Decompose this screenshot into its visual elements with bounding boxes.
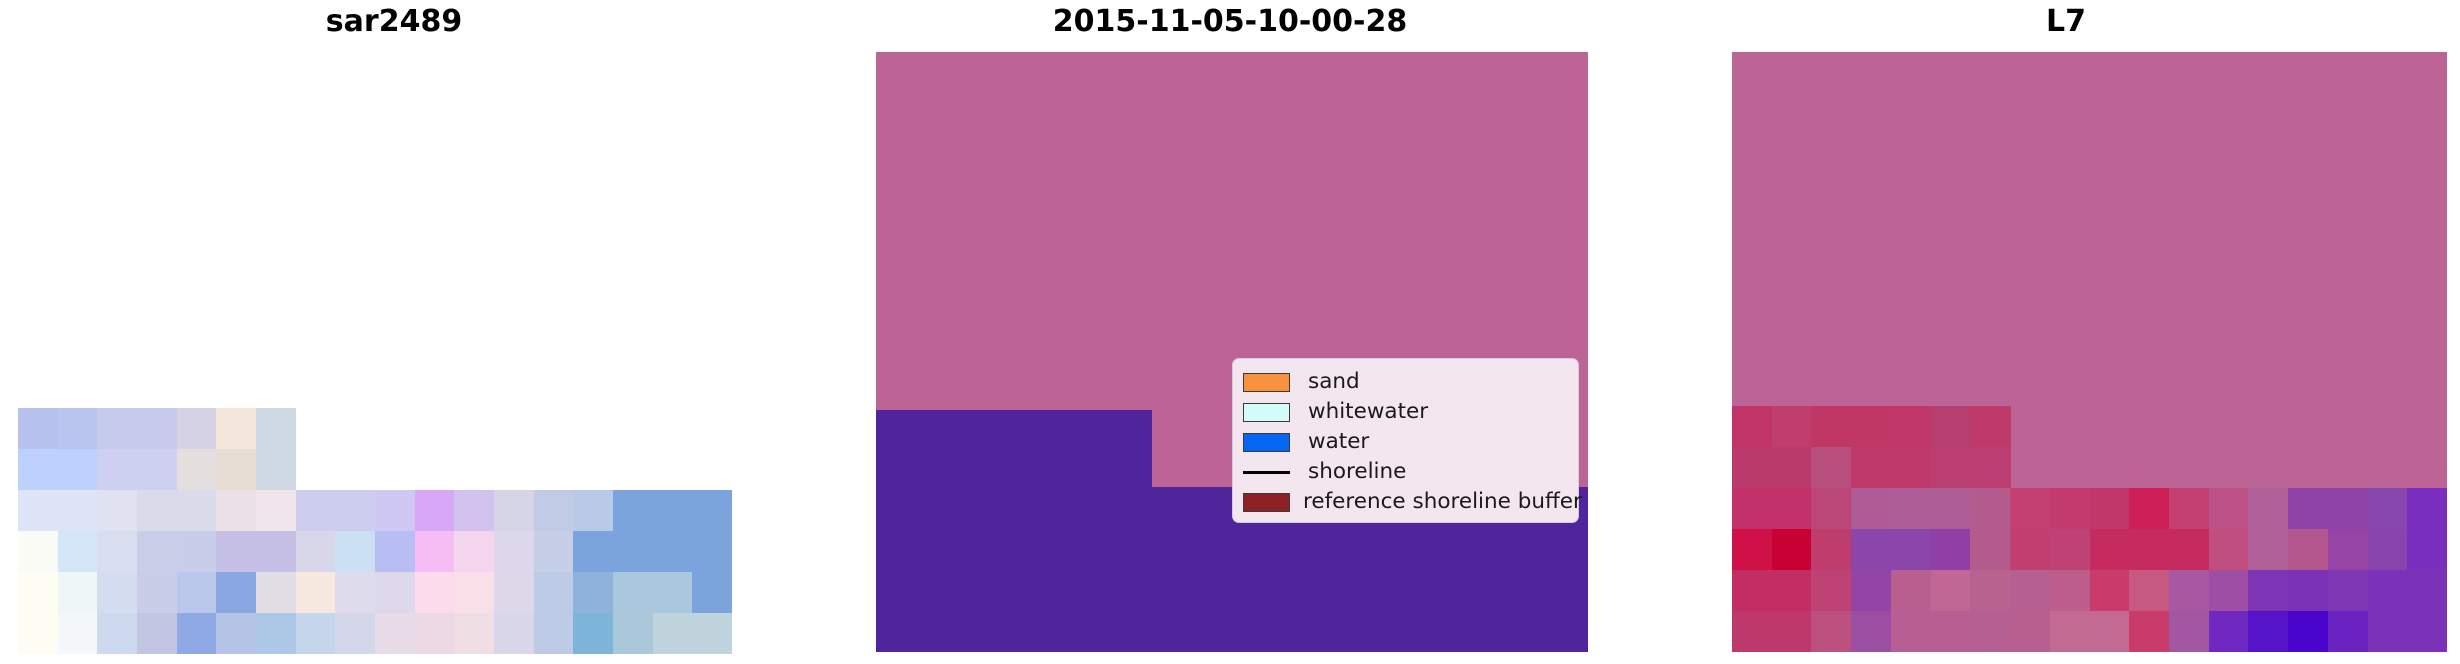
- sar-cell: [177, 408, 217, 450]
- l7-cell: [1931, 529, 1971, 571]
- sar-cell: [494, 490, 534, 532]
- l7-cell: [1811, 570, 1851, 612]
- l7-cell: [1732, 611, 1772, 652]
- legend-marker-icon: [1243, 471, 1290, 474]
- sar-cell: [415, 613, 455, 654]
- raster-l7: [1732, 52, 2447, 652]
- l7-cell: [2010, 570, 2050, 612]
- legend-swatch-shoreline-icon: [1243, 471, 1295, 474]
- legend-swatch-whitewater-icon: [1243, 403, 1295, 422]
- l7-cell: [1811, 406, 1851, 448]
- sar-cell: [335, 613, 375, 654]
- figure-canvas: sar2489 2015-11-05-10-00-28 L7 sandwhite…: [0, 0, 2460, 664]
- sar-cell: [375, 572, 415, 614]
- sar-cell: [256, 408, 296, 450]
- l7-cell: [1772, 447, 1812, 489]
- l7-cell: [2407, 488, 2447, 530]
- sar-cell: [18, 490, 58, 532]
- panel-title-timestamp: 2015-11-05-10-00-28: [836, 4, 1624, 40]
- l7-cell: [1732, 488, 1772, 530]
- l7-cell: [1891, 488, 1931, 530]
- sar-cell: [177, 572, 217, 614]
- sar-cell: [653, 613, 693, 654]
- sar-cell: [137, 531, 177, 573]
- l7-cell: [2010, 488, 2050, 530]
- sar-cell: [296, 531, 336, 573]
- panel-l7: L7: [1672, 0, 2460, 664]
- l7-cell: [1811, 447, 1851, 489]
- legend-marker-icon: [1243, 493, 1290, 512]
- l7-cell: [2209, 488, 2249, 530]
- l7-cell: [2368, 570, 2408, 612]
- sar-cell: [296, 572, 336, 614]
- sar-cell: [494, 572, 534, 614]
- legend-marker-icon: [1243, 373, 1290, 392]
- sar-cell: [18, 613, 58, 654]
- l7-cell: [1891, 529, 1931, 571]
- legend-swatch-reference-icon: [1243, 493, 1290, 512]
- sar-cell: [454, 613, 494, 654]
- sar-cell: [613, 613, 653, 654]
- l7-cell: [2169, 488, 2209, 530]
- panel-title-l7: L7: [1672, 4, 2460, 40]
- sar-cell: [494, 531, 534, 573]
- sar-cell: [573, 572, 613, 614]
- l7-cell: [2169, 611, 2209, 652]
- l7-cell: [2209, 570, 2249, 612]
- legend-item-whitewater: whitewater: [1243, 397, 1568, 427]
- legend-label: reference shoreline buffer: [1290, 487, 1582, 517]
- sar-cell: [534, 490, 574, 532]
- sar-cell: [692, 531, 732, 573]
- l7-cell: [1931, 488, 1971, 530]
- l7-cell: [1931, 611, 1971, 652]
- sar-cell: [692, 572, 732, 614]
- legend-swatch-water-icon: [1243, 433, 1295, 452]
- l7-cell: [2288, 488, 2328, 530]
- l7-cell: [2209, 529, 2249, 571]
- sar-cell: [653, 531, 693, 573]
- sar-cell: [97, 531, 137, 573]
- l7-cell: [1931, 406, 1971, 448]
- sar-cell: [177, 531, 217, 573]
- l7-cell: [1931, 570, 1971, 612]
- l7-cell: [1931, 447, 1971, 489]
- sar-cell: [137, 449, 177, 491]
- sar-cell: [97, 449, 137, 491]
- sar-cell: [256, 572, 296, 614]
- l7-cell: [1732, 529, 1772, 571]
- l7-cell: [2288, 529, 2328, 571]
- l7-cell: [2288, 611, 2328, 652]
- sar-cell: [177, 449, 217, 491]
- sar-cell: [494, 613, 534, 654]
- l7-cell: [2050, 611, 2090, 652]
- sar-cell: [613, 572, 653, 614]
- l7-cell: [2090, 529, 2130, 571]
- sar-cell: [415, 490, 455, 532]
- legend-item-water: water: [1243, 427, 1568, 457]
- l7-cell: [1851, 611, 1891, 652]
- sar-cell: [415, 531, 455, 573]
- sar-cell: [256, 613, 296, 654]
- sar-cell: [58, 449, 98, 491]
- l7-cell: [1851, 406, 1891, 448]
- sar-cell: [454, 572, 494, 614]
- l7-cell: [2090, 488, 2130, 530]
- l7-cell: [1891, 447, 1931, 489]
- legend-marker-icon: [1243, 433, 1290, 452]
- legend: sandwhitewaterwatershorelinereference sh…: [1232, 358, 1579, 523]
- l7-cell: [1772, 611, 1812, 652]
- l7-cell: [1811, 611, 1851, 652]
- l7-cell: [2407, 570, 2447, 612]
- l7-cell: [1732, 570, 1772, 612]
- sar-cell: [18, 408, 58, 450]
- sar-cell: [454, 490, 494, 532]
- sar-cell: [137, 572, 177, 614]
- sar-cell: [58, 613, 98, 654]
- l7-cell: [2328, 488, 2368, 530]
- legend-item-sand: sand: [1243, 367, 1568, 397]
- legend-item-reference: reference shoreline buffer: [1243, 487, 1568, 517]
- sar-cell: [137, 490, 177, 532]
- sar-cell: [573, 490, 613, 532]
- sar-cell: [692, 490, 732, 532]
- raster-classified-scene: [876, 52, 1588, 652]
- sar-cell: [216, 531, 256, 573]
- sar-cell: [296, 490, 336, 532]
- sar-cell: [375, 531, 415, 573]
- sar-cell: [613, 490, 653, 532]
- l7-cell: [2129, 611, 2169, 652]
- l7-cell: [2368, 611, 2408, 652]
- sar-cell: [613, 531, 653, 573]
- l7-cell: [2328, 570, 2368, 612]
- l7-cell: [2010, 611, 2050, 652]
- legend-swatch-sand-icon: [1243, 373, 1295, 392]
- sar-cell: [256, 490, 296, 532]
- sar-cell: [216, 408, 256, 450]
- l7-cell: [1891, 611, 1931, 652]
- l7-cell: [2248, 570, 2288, 612]
- sar-cell: [58, 572, 98, 614]
- sar-cell: [97, 490, 137, 532]
- l7-cell: [2368, 529, 2408, 571]
- sar-cell: [653, 490, 693, 532]
- sar-cell: [335, 572, 375, 614]
- l7-cell: [2248, 529, 2288, 571]
- l7-cell: [1772, 529, 1812, 571]
- l7-cell: [1732, 447, 1772, 489]
- legend-label: whitewater: [1295, 397, 1428, 427]
- sar-cell: [97, 408, 137, 450]
- l7-cell: [2050, 570, 2090, 612]
- l7-cell: [2368, 488, 2408, 530]
- sar-cell: [58, 490, 98, 532]
- l7-cell: [1772, 570, 1812, 612]
- sar-cell: [97, 613, 137, 654]
- l7-cell: [1970, 488, 2010, 530]
- l7-cell: [1772, 488, 1812, 530]
- l7-cell: [2248, 488, 2288, 530]
- l7-cell: [1851, 570, 1891, 612]
- l7-cell: [2090, 611, 2130, 652]
- sar-cell: [534, 572, 574, 614]
- l7-cell: [2328, 529, 2368, 571]
- sar-cell: [534, 613, 574, 654]
- l7-cell: [2248, 611, 2288, 652]
- l7-cell: [2407, 529, 2447, 571]
- sar-cell: [216, 613, 256, 654]
- sar-cell: [573, 613, 613, 654]
- l7-cell: [1811, 488, 1851, 530]
- sar-cell: [256, 531, 296, 573]
- l7-cell: [2169, 529, 2209, 571]
- l7-cell: [1851, 447, 1891, 489]
- l7-cell: [2050, 488, 2090, 530]
- sar-cell: [177, 490, 217, 532]
- raster-sar2489: [18, 408, 732, 654]
- sar-cell: [296, 613, 336, 654]
- l7-cell: [1732, 406, 1772, 448]
- sar-cell: [216, 490, 256, 532]
- l7-cell: [2407, 611, 2447, 652]
- sar-cell: [335, 490, 375, 532]
- l7-cell: [1970, 406, 2010, 448]
- legend-marker-icon: [1243, 403, 1290, 422]
- l7-cell: [2050, 529, 2090, 571]
- l7-cell: [2129, 570, 2169, 612]
- l7-cell: [1970, 529, 2010, 571]
- panel-title-sar2489: sar2489: [0, 4, 788, 40]
- legend-label: shoreline: [1295, 457, 1406, 487]
- sar-cell: [415, 572, 455, 614]
- sar-cell: [375, 490, 415, 532]
- sar-cell: [256, 449, 296, 491]
- l7-cell: [2129, 529, 2169, 571]
- sar-cell: [216, 572, 256, 614]
- l7-cell: [1970, 570, 2010, 612]
- sar-cell: [375, 613, 415, 654]
- l7-cell: [2288, 570, 2328, 612]
- l7-cell: [1772, 406, 1812, 448]
- l7-cell: [2169, 570, 2209, 612]
- legend-label: sand: [1295, 367, 1360, 397]
- l7-cell: [1851, 488, 1891, 530]
- l7-cell: [1970, 611, 2010, 652]
- l7-cell: [2090, 570, 2130, 612]
- sar-cell: [18, 572, 58, 614]
- sar-cell: [18, 531, 58, 573]
- l7-cell: [2129, 488, 2169, 530]
- sar-cell: [216, 449, 256, 491]
- sar-cell: [653, 572, 693, 614]
- sar-cell: [534, 531, 574, 573]
- sar-cell: [454, 531, 494, 573]
- l7-cell: [2209, 611, 2249, 652]
- panel-classified-scene: 2015-11-05-10-00-28: [836, 0, 1624, 664]
- l7-cell: [1891, 570, 1931, 612]
- panel-sar2489: sar2489: [0, 0, 788, 664]
- sar-cell: [97, 572, 137, 614]
- legend-label: water: [1295, 427, 1369, 457]
- legend-item-shoreline: shoreline: [1243, 457, 1568, 487]
- sar-cell: [58, 408, 98, 450]
- l7-cell: [2010, 529, 2050, 571]
- l7-cell: [1970, 447, 2010, 489]
- sar-cell: [18, 449, 58, 491]
- sar-cell: [177, 613, 217, 654]
- sar-cell: [692, 613, 732, 654]
- sar-cell: [58, 531, 98, 573]
- l7-cell: [1811, 529, 1851, 571]
- sar-cell: [137, 613, 177, 654]
- sar-cell: [335, 531, 375, 573]
- l7-cell: [2328, 611, 2368, 652]
- l7-cell: [1851, 529, 1891, 571]
- l7-cell: [1891, 406, 1931, 448]
- sar-cell: [573, 531, 613, 573]
- sar-cell: [137, 408, 177, 450]
